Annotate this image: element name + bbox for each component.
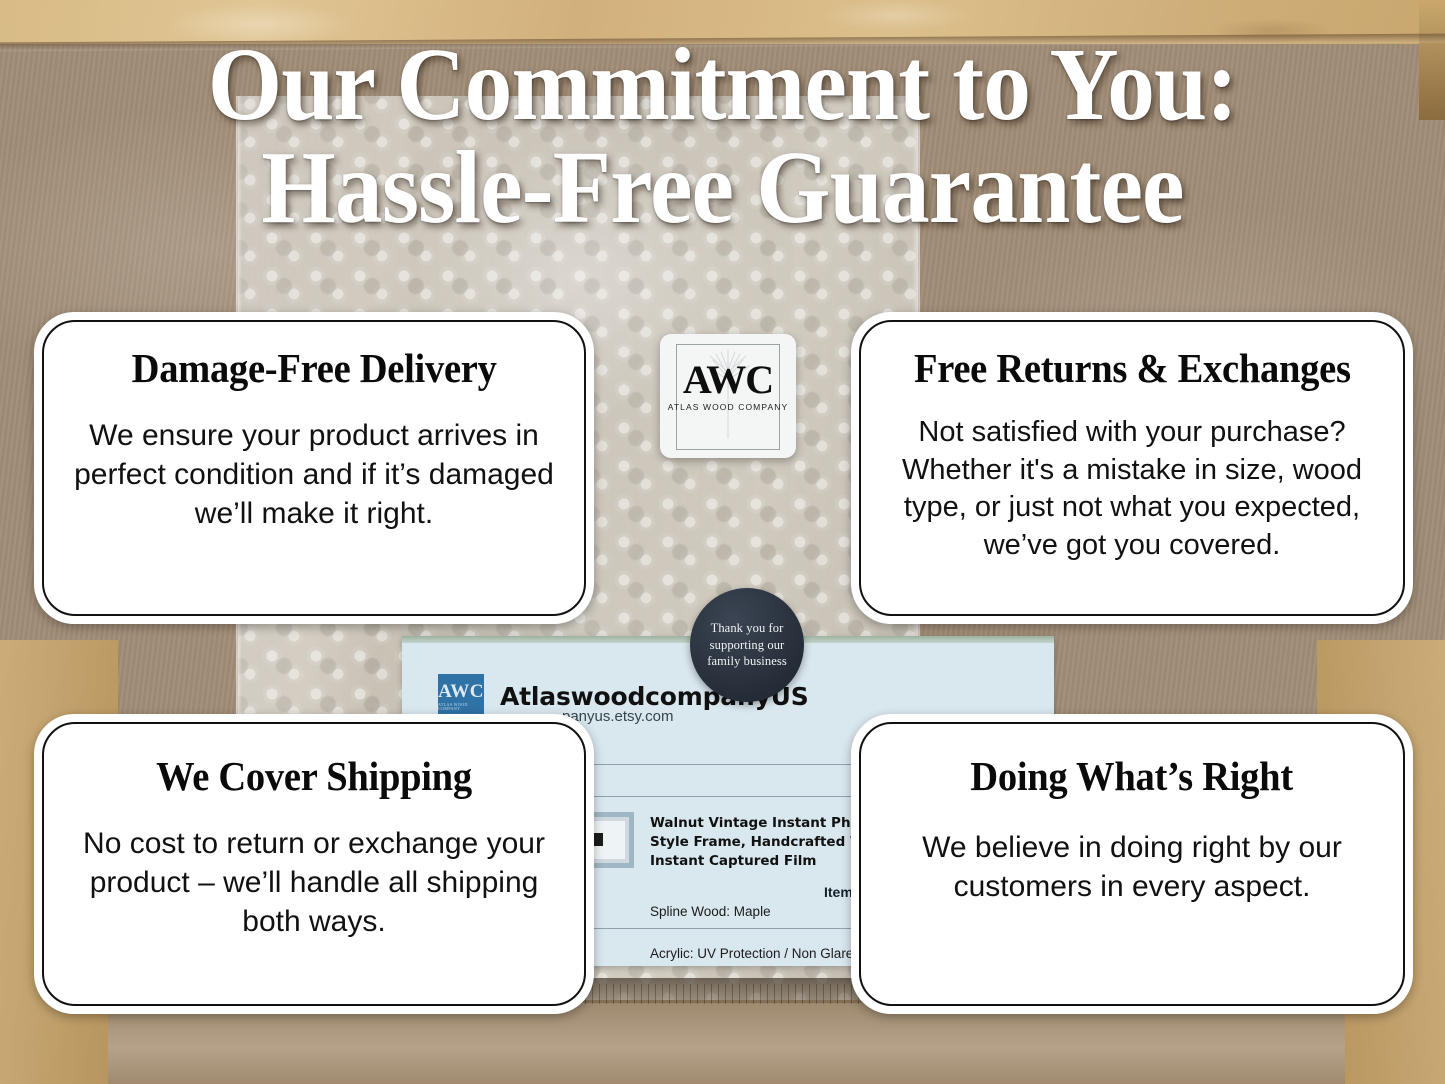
thank-you-sticker-text: Thank you for supporting our family busi… — [700, 620, 794, 670]
feature-card-title: Doing What’s Right — [971, 756, 1294, 798]
thank-you-line-1: Thank you for — [707, 620, 787, 637]
feature-card-damage-free-delivery: Damage-Free Delivery We ensure your prod… — [34, 312, 594, 624]
feature-card-title: Free Returns & Exchanges — [914, 348, 1351, 390]
awc-brand-sticker: AWC ATLAS WOOD COMPANY — [660, 334, 796, 458]
awc-badge-text: AWC — [438, 682, 484, 701]
feature-card-we-cover-shipping: We Cover Shipping No cost to return or e… — [34, 714, 594, 1014]
feature-card-body: Not satisfied with your purchase? Whethe… — [887, 414, 1377, 565]
awc-monogram: AWC — [660, 360, 796, 400]
feature-card-free-returns-exchanges: Free Returns & Exchanges Not satisfied w… — [851, 312, 1413, 624]
feature-card-title: We Cover Shipping — [156, 756, 472, 798]
label-item-text: Item — [824, 884, 853, 900]
feature-card-body: We ensure your product arrives in perfec… — [70, 416, 558, 533]
feature-card-doing-whats-right: Doing What’s Right We believe in doing r… — [851, 714, 1413, 1014]
feature-card-body: We believe in doing right by our custome… — [887, 828, 1377, 906]
thank-you-sticker: Thank you for supporting our family busi… — [690, 588, 804, 702]
awc-logo-badge: AWC ATLAS WOOD COMPANY — [438, 674, 484, 718]
thank-you-line-3: family business — [707, 653, 787, 670]
awc-wordmark: ATLAS WOOD COMPANY — [660, 402, 796, 412]
guarantee-infographic: AWC ATLAS WOOD COMPANY AtlaswoodcompanyU… — [0, 0, 1445, 1084]
product-spec-spline: Spline Wood: Maple — [650, 904, 771, 919]
feature-card-body: No cost to return or exchange your produ… — [70, 824, 558, 941]
feature-card-title: Damage-Free Delivery — [132, 348, 497, 390]
cardboard-right-slat — [1419, 0, 1445, 120]
awc-badge-subtext: ATLAS WOOD COMPANY — [438, 703, 484, 711]
thank-you-line-2: supporting our — [707, 637, 787, 654]
